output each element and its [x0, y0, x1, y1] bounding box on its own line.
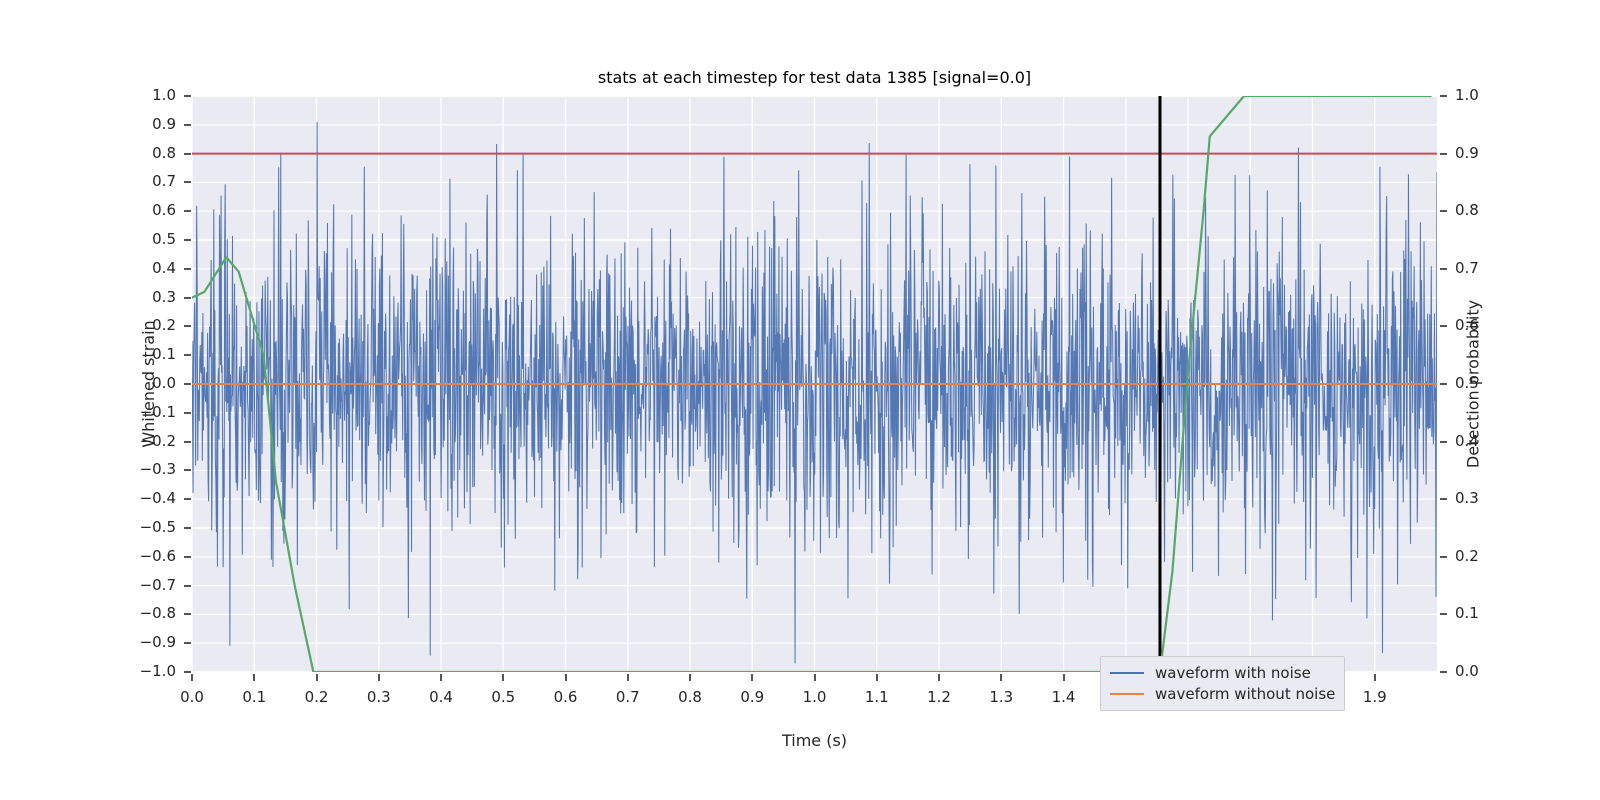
- x-axis-tick-mark: [814, 674, 816, 681]
- x-axis-tick-label: 0.9: [737, 688, 767, 706]
- y-axis-left-tick-mark: [184, 354, 191, 356]
- y-axis-left-tick-mark: [184, 469, 191, 471]
- y-axis-right-tick-label: 0.3: [1455, 489, 1479, 507]
- y-axis-left-tick-label: 1.0: [152, 86, 176, 104]
- y-axis-left-tick-mark: [184, 412, 191, 414]
- y-axis-left-tick-label: −0.3: [140, 460, 176, 478]
- y-axis-left-tick-mark: [184, 671, 191, 673]
- x-axis-tick-mark: [316, 674, 318, 681]
- x-axis-tick-label: 1.1: [862, 688, 892, 706]
- y-axis-left-tick-label: −0.5: [140, 518, 176, 536]
- y-axis-left-tick-label: 0.0: [152, 374, 176, 392]
- legend[interactable]: waveform with noise waveform without noi…: [1100, 656, 1345, 711]
- x-axis-tick-label: 1.3: [986, 688, 1016, 706]
- x-axis-tick-mark: [502, 674, 504, 681]
- x-axis-tick-label: 0.7: [613, 688, 643, 706]
- legend-label: waveform without noise: [1155, 685, 1335, 703]
- x-axis-tick-mark: [1000, 674, 1002, 681]
- y-axis-left-tick-mark: [184, 268, 191, 270]
- x-axis-tick-label: 1.4: [1049, 688, 1079, 706]
- y-axis-left-tick-label: −1.0: [140, 662, 176, 680]
- y-axis-right-tick-mark: [1440, 268, 1447, 270]
- legend-label: waveform with noise: [1155, 664, 1311, 682]
- y-axis-right-tick-label: 0.6: [1455, 316, 1479, 334]
- plot-area: [192, 96, 1437, 672]
- y-axis-right-tick-label: 0.1: [1455, 604, 1479, 622]
- y-axis-right-tick-mark: [1440, 325, 1447, 327]
- y-axis-left-tick-mark: [184, 383, 191, 385]
- y-axis-left-tick-label: 0.4: [152, 259, 176, 277]
- x-axis-tick-mark: [565, 674, 567, 681]
- x-axis-tick-mark: [191, 674, 193, 681]
- x-axis-tick-label: 0.1: [239, 688, 269, 706]
- y-axis-right-tick-label: 0.5: [1455, 374, 1479, 392]
- y-axis-left-tick-mark: [184, 527, 191, 529]
- x-axis-tick-mark: [378, 674, 380, 681]
- y-axis-right-tick-label: 0.9: [1455, 144, 1479, 162]
- legend-item-waveform-with-noise[interactable]: waveform with noise: [1110, 662, 1335, 683]
- x-axis-tick-label: 0.3: [364, 688, 394, 706]
- y-axis-left-tick-mark: [184, 325, 191, 327]
- y-axis-left-tick-mark: [184, 441, 191, 443]
- matplotlib-figure: stats at each timestep for test data 138…: [0, 0, 1600, 800]
- y-axis-left-tick-mark: [184, 498, 191, 500]
- y-axis-right-tick-label: 1.0: [1455, 86, 1479, 104]
- x-axis-tick-mark: [253, 674, 255, 681]
- y-axis-left-tick-mark: [184, 181, 191, 183]
- x-axis-tick-label: 1.9: [1360, 688, 1390, 706]
- y-axis-left-tick-label: 0.8: [152, 144, 176, 162]
- y-axis-left-tick-label: −0.9: [140, 633, 176, 651]
- y-axis-left-tick-label: −0.6: [140, 547, 176, 565]
- legend-item-waveform-without-noise[interactable]: waveform without noise: [1110, 683, 1335, 704]
- y-axis-right-tick-mark: [1440, 95, 1447, 97]
- x-axis-tick-label: 0.2: [302, 688, 332, 706]
- chart-title-container: stats at each timestep for test data 138…: [192, 68, 1437, 87]
- x-axis-tick-label: 0.5: [488, 688, 518, 706]
- x-axis-tick-mark: [1063, 674, 1065, 681]
- y-axis-left-tick-label: 0.2: [152, 316, 176, 334]
- y-axis-right-tick-label: 0.7: [1455, 259, 1479, 277]
- y-axis-right-tick-mark: [1440, 153, 1447, 155]
- x-axis-tick-mark: [689, 674, 691, 681]
- y-axis-right-tick-mark: [1440, 556, 1447, 558]
- x-axis-tick-mark: [876, 674, 878, 681]
- y-axis-right-tick-mark: [1440, 613, 1447, 615]
- y-axis-left-tick-mark: [184, 210, 191, 212]
- y-axis-left-tick-label: 0.6: [152, 201, 176, 219]
- y-axis-right-tick-mark: [1440, 210, 1447, 212]
- y-axis-right-tick-mark: [1440, 383, 1447, 385]
- x-axis-tick-label: 1.2: [924, 688, 954, 706]
- y-axis-left-tick-label: −0.2: [140, 432, 176, 450]
- plot-canvas: [192, 96, 1437, 672]
- y-axis-right-tick-mark: [1440, 671, 1447, 673]
- x-axis-label-container: Time (s): [192, 731, 1437, 750]
- y-axis-right-tick-label: 0.4: [1455, 432, 1479, 450]
- y-axis-left-tick-label: 0.3: [152, 288, 176, 306]
- x-axis-tick-label: 0.6: [551, 688, 581, 706]
- y-axis-right-tick-mark: [1440, 441, 1447, 443]
- x-axis-tick-mark: [1374, 674, 1376, 681]
- y-axis-right-tick-label: 0.2: [1455, 547, 1479, 565]
- x-axis-tick-mark: [751, 674, 753, 681]
- x-axis-tick-label: 1.0: [800, 688, 830, 706]
- y-axis-left-tick-label: 0.9: [152, 115, 176, 133]
- y-axis-left-tick-mark: [184, 613, 191, 615]
- y-axis-left-tick-mark: [184, 642, 191, 644]
- x-axis-tick-mark: [627, 674, 629, 681]
- x-axis-tick-mark: [440, 674, 442, 681]
- y-axis-right-tick-label: 0.8: [1455, 201, 1479, 219]
- y-axis-left-tick-mark: [184, 239, 191, 241]
- y-axis-left-tick-mark: [184, 556, 191, 558]
- legend-swatch-blue: [1110, 672, 1144, 674]
- y-axis-left-tick-label: −0.4: [140, 489, 176, 507]
- y-axis-left-tick-label: −0.1: [140, 403, 176, 421]
- y-axis-left-tick-mark: [184, 585, 191, 587]
- y-axis-left-tick-mark: [184, 124, 191, 126]
- x-axis-label: Time (s): [782, 731, 847, 750]
- y-axis-left-tick-mark: [184, 297, 191, 299]
- x-axis-tick-label: 0.8: [675, 688, 705, 706]
- y-axis-left-tick-mark: [184, 153, 191, 155]
- x-axis-tick-label: 0.4: [426, 688, 456, 706]
- legend-swatch-orange: [1110, 693, 1144, 695]
- y-axis-right-tick-mark: [1440, 498, 1447, 500]
- y-axis-left-tick-label: −0.8: [140, 604, 176, 622]
- y-axis-left-tick-mark: [184, 95, 191, 97]
- y-axis-left-tick-label: 0.7: [152, 172, 176, 190]
- y-axis-left-tick-label: 0.5: [152, 230, 176, 248]
- y-axis-left-tick-label: 0.1: [152, 345, 176, 363]
- y-axis-right-tick-label: 0.0: [1455, 662, 1479, 680]
- y-axis-left-tick-label: −0.7: [140, 576, 176, 594]
- x-axis-tick-label: 0.0: [177, 688, 207, 706]
- chart-title: stats at each timestep for test data 138…: [598, 68, 1031, 87]
- x-axis-tick-mark: [938, 674, 940, 681]
